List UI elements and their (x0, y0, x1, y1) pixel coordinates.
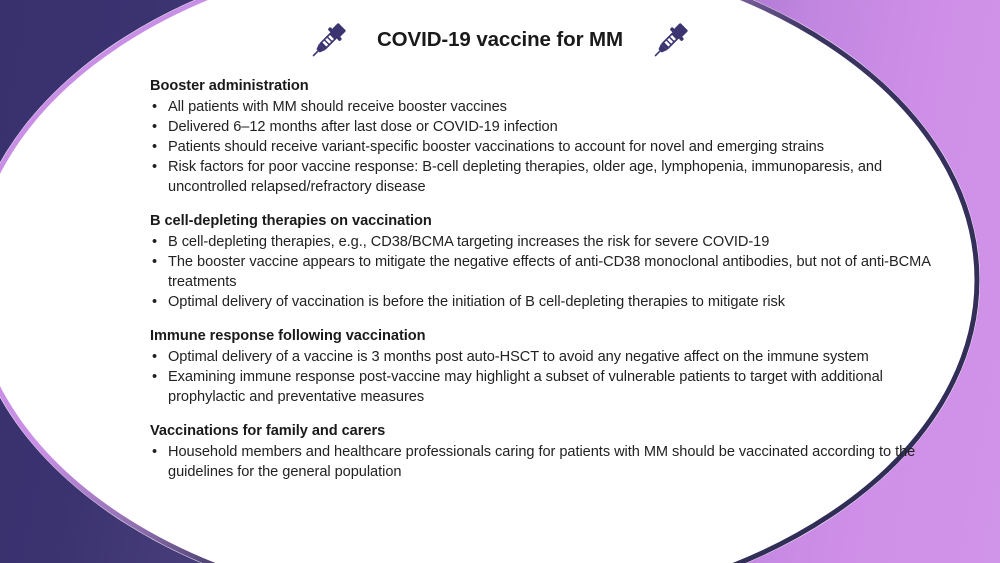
slide-canvas: COVID-19 vaccine for MM Booster administ… (0, 0, 1000, 563)
section-heading: Vaccinations for family and carers (150, 421, 940, 441)
section-immune-response: Immune response following vaccination Op… (150, 326, 940, 407)
list-item: Optimal delivery of a vaccine is 3 month… (150, 347, 940, 367)
syringe-icon-left (303, 14, 355, 66)
section-b-cell-depleting-therapies: B cell-depleting therapies on vaccinatio… (150, 211, 940, 312)
list-item: Patients should receive variant-specific… (150, 137, 940, 157)
section-bullet-list: Optimal delivery of a vaccine is 3 month… (150, 347, 940, 407)
list-item: Risk factors for poor vaccine response: … (150, 157, 940, 197)
section-vaccinations-family-carers: Vaccinations for family and carers House… (150, 421, 940, 482)
section-heading: Booster administration (150, 76, 940, 96)
slide-body: Booster administration All patients with… (150, 76, 940, 482)
section-bullet-list: B cell-depleting therapies, e.g., CD38/B… (150, 232, 940, 312)
section-bullet-list: All patients with MM should receive boos… (150, 97, 940, 197)
list-item: All patients with MM should receive boos… (150, 97, 940, 117)
list-item: The booster vaccine appears to mitigate … (150, 252, 940, 292)
slide-header: COVID-19 vaccine for MM (0, 14, 1000, 66)
section-heading: B cell-depleting therapies on vaccinatio… (150, 211, 940, 231)
section-booster-administration: Booster administration All patients with… (150, 76, 940, 197)
page-title: COVID-19 vaccine for MM (355, 28, 645, 52)
list-item: Household members and healthcare profess… (150, 442, 940, 482)
section-heading: Immune response following vaccination (150, 326, 940, 346)
list-item: B cell-depleting therapies, e.g., CD38/B… (150, 232, 940, 252)
syringe-icon-right (645, 14, 697, 66)
list-item: Delivered 6–12 months after last dose or… (150, 117, 940, 137)
list-item: Optimal delivery of vaccination is befor… (150, 292, 940, 312)
section-bullet-list: Household members and healthcare profess… (150, 442, 940, 482)
list-item: Examining immune response post-vaccine m… (150, 367, 940, 407)
